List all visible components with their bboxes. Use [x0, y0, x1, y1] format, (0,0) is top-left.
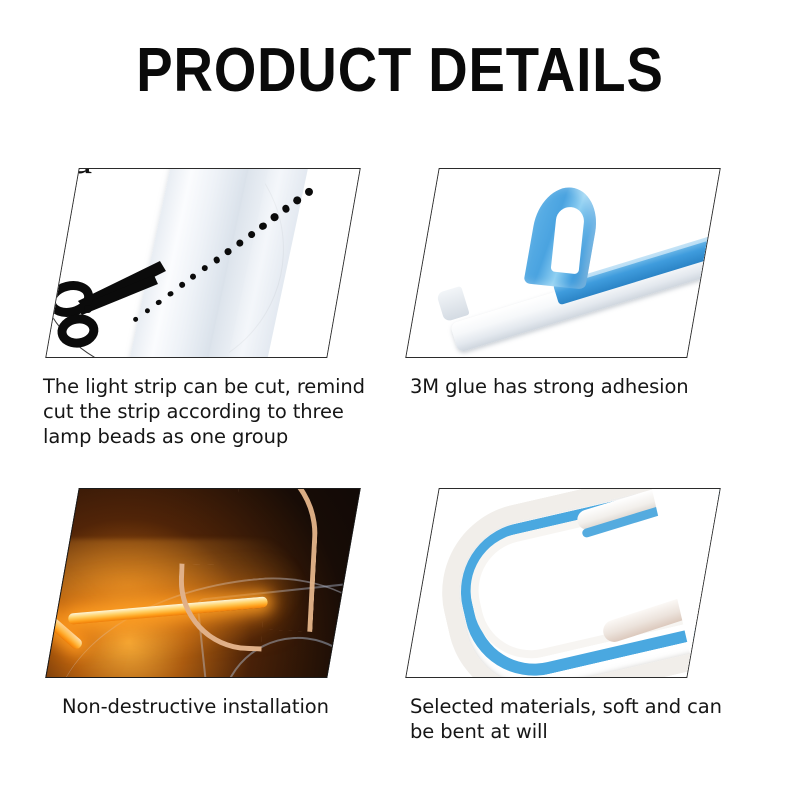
caption-line: be bent at will: [410, 719, 750, 744]
scissors-icon: [48, 257, 168, 349]
photo-cut: d: [45, 168, 361, 358]
cut-line-dot: [201, 264, 209, 272]
detail-card-bend: Selected materials, soft and can be bent…: [400, 480, 750, 770]
photo-frame-cut: d: [45, 168, 361, 358]
photo-frame-bend: [405, 488, 721, 678]
caption-line: lamp beads as one group: [43, 424, 383, 449]
caption-line: Selected materials, soft and can: [410, 694, 750, 719]
detail-card-glue: 3M glue has strong adhesion: [400, 160, 750, 450]
cut-line-dot: [235, 238, 244, 247]
detail-card-install: Non-destructive installation: [40, 480, 380, 770]
detail-caption-install: Non-destructive installation: [62, 694, 402, 719]
cut-line-dot: [178, 282, 185, 289]
cut-line-dot: [270, 213, 280, 223]
cut-line-dot: [247, 230, 256, 239]
photo-bend: [405, 488, 721, 678]
detail-card-cut: d: [40, 160, 380, 450]
cut-line-dot: [212, 256, 220, 264]
caption-line: 3M glue has strong adhesion: [410, 374, 750, 399]
bent-led-strip: [424, 488, 705, 678]
detail-caption-bend: Selected materials, soft and can be bent…: [410, 694, 750, 744]
cut-line-dot: [292, 195, 302, 205]
caption-line: Non-destructive installation: [62, 694, 402, 719]
caption-line: The light strip can be cut, remind: [43, 374, 383, 399]
product-details-page: PRODUCT DETAILS d: [0, 0, 800, 800]
overlay-letter: d: [70, 168, 92, 181]
photo-glue: [405, 168, 721, 358]
photo-frame-install: [45, 488, 361, 678]
page-title: PRODUCT DETAILS: [48, 38, 752, 103]
cut-line-dot: [281, 204, 291, 214]
cut-line-dot: [258, 221, 267, 230]
cut-line-dot: [224, 247, 233, 256]
cut-line-dot: [304, 187, 314, 197]
detail-caption-cut: The light strip can be cut, remind cut t…: [43, 374, 383, 449]
led-segment: [45, 602, 84, 651]
photo-frame-glue: [405, 168, 721, 358]
cut-line-dot: [190, 273, 198, 281]
detail-caption-glue: 3M glue has strong adhesion: [410, 374, 750, 399]
caption-line: cut the strip according to three: [43, 399, 383, 424]
photo-install: [45, 488, 361, 678]
